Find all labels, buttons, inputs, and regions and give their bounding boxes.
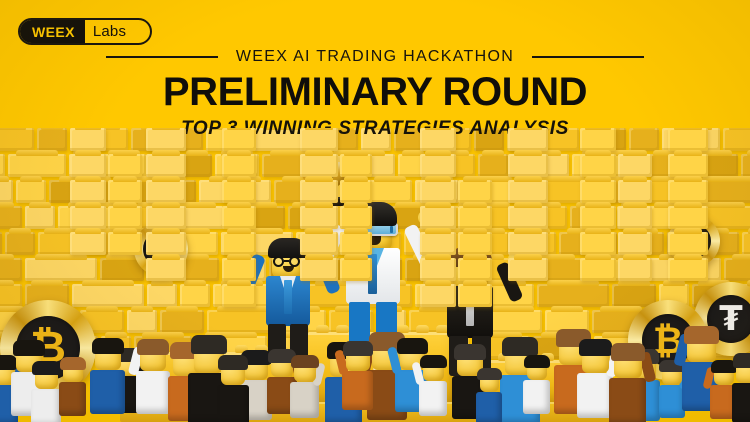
page-subtitle: TOP 3 WINNING STRATEGIES ANALYSIS (0, 118, 750, 140)
lego-wall-letter-brick (618, 206, 652, 229)
crowd-figure-torso (419, 381, 447, 416)
crowd-figure-torso (290, 382, 319, 418)
crowd-minifigure (476, 359, 502, 422)
lego-wall-letter-brick (420, 258, 456, 281)
crowd-figure-hair (218, 355, 248, 370)
lego-brick (742, 232, 750, 255)
lego-wall-letter-brick (420, 206, 456, 229)
lego-wall-letter-brick (508, 258, 548, 281)
lego-brick (478, 154, 508, 177)
lego-brick (0, 180, 13, 203)
crowd-figure-hair (477, 368, 502, 380)
lego-wall-letter-brick (580, 128, 616, 151)
crowd-figure-torso (476, 392, 502, 422)
lego-wall-letter-brick (146, 206, 186, 229)
crowd-figure-torso (31, 389, 61, 422)
crowd-figure-hair (137, 339, 169, 355)
lego-wall-letter-brick (222, 154, 256, 177)
lego-wall-letter-brick (222, 258, 256, 281)
lego-wall-letter-brick (508, 180, 548, 203)
crowd-minifigure (732, 345, 750, 422)
crowd-figure-torso (217, 385, 249, 422)
hackathon-poster: ₿⧫◈₮₿ 2 1 3 (0, 0, 750, 422)
figure-mouth (283, 266, 294, 272)
lego-wall-letter-brick (668, 180, 708, 203)
lego-wall-letter-brick (420, 154, 456, 177)
lego-wall-letter-brick (458, 232, 492, 255)
crowd-figure-hair (343, 341, 373, 356)
weex-labs-logo[interactable]: WEEX Labs (18, 18, 152, 45)
crowd-figure-hair (32, 361, 61, 375)
lego-wall-letter-brick (668, 258, 708, 281)
crowd-minifigure (523, 346, 550, 414)
logo-labs-text: Labs (85, 20, 138, 43)
crowd-minifigure (290, 346, 319, 418)
lego-wall-letter-brick (300, 128, 338, 151)
crowd-minifigure (136, 331, 170, 414)
lego-brick (182, 154, 212, 177)
kicker-row: WEEX AI TRADING HACKATHON (0, 48, 750, 66)
lego-wall-letter-brick (580, 154, 616, 177)
crowd-figure-hair (733, 353, 750, 368)
crowd-figure-torso (342, 371, 373, 410)
rule-right (532, 56, 644, 58)
crowd-figure-torso (136, 371, 170, 414)
lego-wall-letter-brick (668, 154, 708, 177)
lego-wall-letter-brick (70, 154, 106, 177)
lego-wall-letter-brick (508, 232, 548, 255)
crowd-figure-torso (609, 378, 646, 422)
crowd-figure-hair (611, 343, 645, 361)
crowd-figure-hair (60, 357, 86, 370)
crowd-minifigure (342, 333, 373, 410)
lego-wall-letter-brick (420, 180, 456, 203)
lego-wall-letter-brick (108, 154, 142, 177)
crowd-figure-hair (420, 355, 447, 368)
lego-wall-letter-brick (458, 180, 492, 203)
lego-brick (0, 232, 2, 255)
lego-brick (724, 258, 750, 281)
lego-brick (25, 206, 55, 229)
lego-wall-letter-brick (146, 232, 186, 255)
lego-wall-letter-brick (300, 258, 338, 281)
logo-weex-text: WEEX (20, 20, 85, 43)
lego-brick (16, 180, 46, 203)
lego-wall-letter-brick (340, 206, 372, 229)
lego-brick (741, 154, 750, 177)
lego-wall-letter-brick (508, 154, 548, 177)
lego-brick (8, 154, 66, 177)
crowd-minifigure (577, 332, 613, 418)
lego-wall-letter-brick (108, 206, 142, 229)
crowd-minifigure (609, 336, 646, 422)
lego-wall-letter-brick (508, 206, 548, 229)
lego-wall-letter-brick (618, 154, 652, 177)
lego-wall-letter-brick (420, 284, 456, 307)
lego-wall-letter-brick (146, 154, 186, 177)
lego-wall-letter-brick (580, 206, 616, 229)
lego-wall-letter-brick (300, 206, 338, 229)
lego-brick (0, 258, 22, 281)
lego-wall-letter-brick (340, 154, 372, 177)
lego-brick (25, 258, 97, 281)
goggles-indicator (390, 226, 393, 233)
lego-wall-letter-brick (668, 206, 708, 229)
crowd-minifigure (90, 330, 125, 414)
lego-brick (0, 154, 5, 177)
crowd-figure-torso (577, 373, 613, 418)
lego-wall-letter-brick (618, 180, 652, 203)
lego-wall-letter-brick (420, 128, 456, 151)
event-kicker: WEEX AI TRADING HACKATHON (236, 48, 514, 66)
lego-wall-letter-brick (146, 128, 186, 151)
lego-wall-letter-brick (70, 232, 106, 255)
lego-wall-letter-brick (580, 180, 616, 203)
crowd-figure-hair (684, 326, 719, 344)
page-title: PRELIMINARY ROUND (0, 70, 750, 114)
crowd-figure-torso (732, 383, 750, 422)
crowd-minifigure (217, 347, 249, 422)
lego-brick (5, 232, 35, 255)
lego-wall-letter-brick (580, 232, 616, 255)
crowd-figure-hair (579, 339, 612, 356)
lego-wall-letter-brick (222, 232, 256, 255)
lego-wall-letter-brick (70, 206, 106, 229)
crowd-figure-torso (523, 380, 550, 414)
lego-brick (0, 206, 22, 229)
lego-wall-letter-brick (70, 128, 106, 151)
lego-wall-letter-brick (458, 258, 492, 281)
lego-wall-letter-brick (340, 180, 372, 203)
lego-wall-letter-brick (300, 180, 338, 203)
lego-wall-letter-brick (458, 206, 492, 229)
lego-wall-letter-brick (580, 258, 616, 281)
lego-minifigure-crowd (0, 307, 750, 422)
lego-wall-letter-brick (458, 284, 492, 307)
crowd-minifigure (31, 352, 61, 422)
crowd-minifigure (419, 346, 447, 416)
crowd-figure-hair (524, 355, 550, 368)
lego-wall-letter-brick (108, 232, 142, 255)
lego-wall-letter-brick (222, 128, 256, 151)
crowd-figure-hair (291, 355, 319, 368)
crowd-figure-torso (59, 382, 86, 416)
lego-wall-letter-brick (618, 232, 652, 255)
rule-left (106, 56, 218, 58)
lego-wall-letter-brick (222, 180, 256, 203)
lego-wall-letter-brick (340, 232, 372, 255)
crowd-figure-hair (92, 338, 124, 354)
lego-wall-letter-brick (146, 180, 186, 203)
lego-wall-letter-brick (668, 232, 708, 255)
crowd-minifigure (59, 348, 86, 416)
lego-wall-letter-brick (668, 128, 708, 151)
lego-wall-letter-brick (70, 180, 106, 203)
lego-wall-letter-brick (108, 180, 142, 203)
lego-wall-letter-brick (508, 128, 548, 151)
crowd-figure-torso (90, 370, 125, 414)
crowd-figure-hair (454, 344, 486, 360)
lego-wall-letter-brick (340, 258, 372, 281)
lego-wall-letter-brick (300, 154, 338, 177)
lego-wall-letter-brick (222, 284, 256, 307)
lego-wall-letter-brick (222, 206, 256, 229)
lego-wall-letter-brick (146, 258, 186, 281)
lego-wall-letter-brick (420, 232, 456, 255)
lego-wall-letter-brick (300, 232, 338, 255)
lego-wall-letter-brick (618, 258, 652, 281)
